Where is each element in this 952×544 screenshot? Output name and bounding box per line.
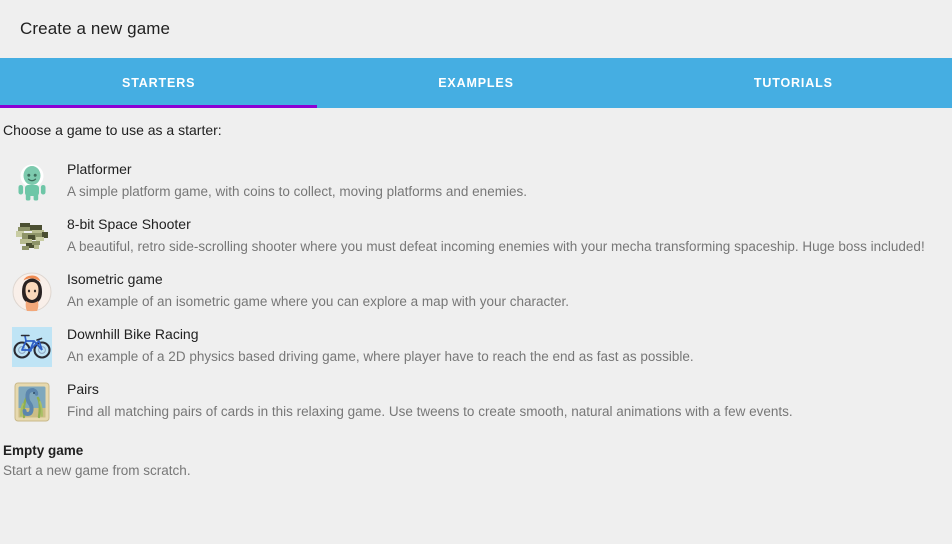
page-title: Create a new game [20,19,170,39]
list-item[interactable]: Platformer A simple platform game, with … [0,160,952,202]
list-item-description: A beautiful, retro side-scrolling shoote… [67,236,938,257]
tab-starters[interactable]: STARTERS [0,58,317,108]
starters-list: Platformer A simple platform game, with … [0,160,952,422]
list-item-title: Downhill Bike Racing [67,325,938,344]
list-item[interactable]: Isometric game An example of an isometri… [0,270,952,312]
list-item[interactable]: Pairs Find all matching pairs of cards i… [0,380,952,422]
list-item-title: 8-bit Space Shooter [67,215,938,234]
tab-examples[interactable]: EXAMPLES [317,58,634,108]
tab-tutorials[interactable]: TUTORIALS [635,58,952,108]
list-item-description: An example of a 2D physics based driving… [67,346,938,367]
empty-game-description: Start a new game from scratch. [3,461,952,481]
create-new-game-dialog: Create a new game STARTERS EXAMPLES TUTO… [0,0,952,544]
empty-game-title: Empty game [3,441,952,461]
list-item[interactable]: Downhill Bike Racing An example of a 2D … [0,325,952,367]
dialog-header: Create a new game [0,0,952,58]
list-item-description: Find all matching pairs of cards in this… [67,401,938,422]
starters-panel: Choose a game to use as a starter: [0,108,952,481]
list-item-description: An example of an isometric game where yo… [67,291,938,312]
list-item-title: Isometric game [67,270,938,289]
isometric-character-avatar-icon [12,272,52,312]
empty-game-option[interactable]: Empty game Start a new game from scratch… [0,435,952,481]
tab-tutorials-label: TUTORIALS [754,76,833,90]
space-shooter-ship-icon [12,217,52,257]
list-item-text: 8-bit Space Shooter A beautiful, retro s… [67,215,938,257]
list-item-text: Isometric game An example of an isometri… [67,270,938,312]
seahorse-card-icon [12,382,52,422]
list-item[interactable]: 8-bit Space Shooter A beautiful, retro s… [0,215,952,257]
active-tab-indicator [0,105,317,108]
tab-bar: STARTERS EXAMPLES TUTORIALS [0,58,952,108]
tab-examples-label: EXAMPLES [438,76,514,90]
list-item-text: Platformer A simple platform game, with … [67,160,938,202]
list-item-text: Pairs Find all matching pairs of cards i… [67,380,938,422]
list-item-text: Downhill Bike Racing An example of a 2D … [67,325,938,367]
list-item-title: Pairs [67,380,938,399]
list-item-description: A simple platform game, with coins to co… [67,181,938,202]
tab-starters-label: STARTERS [122,76,195,90]
bicycle-icon [12,327,52,367]
choose-game-label: Choose a game to use as a starter: [0,108,952,138]
list-item-title: Platformer [67,160,938,179]
platformer-alien-icon [12,162,52,202]
